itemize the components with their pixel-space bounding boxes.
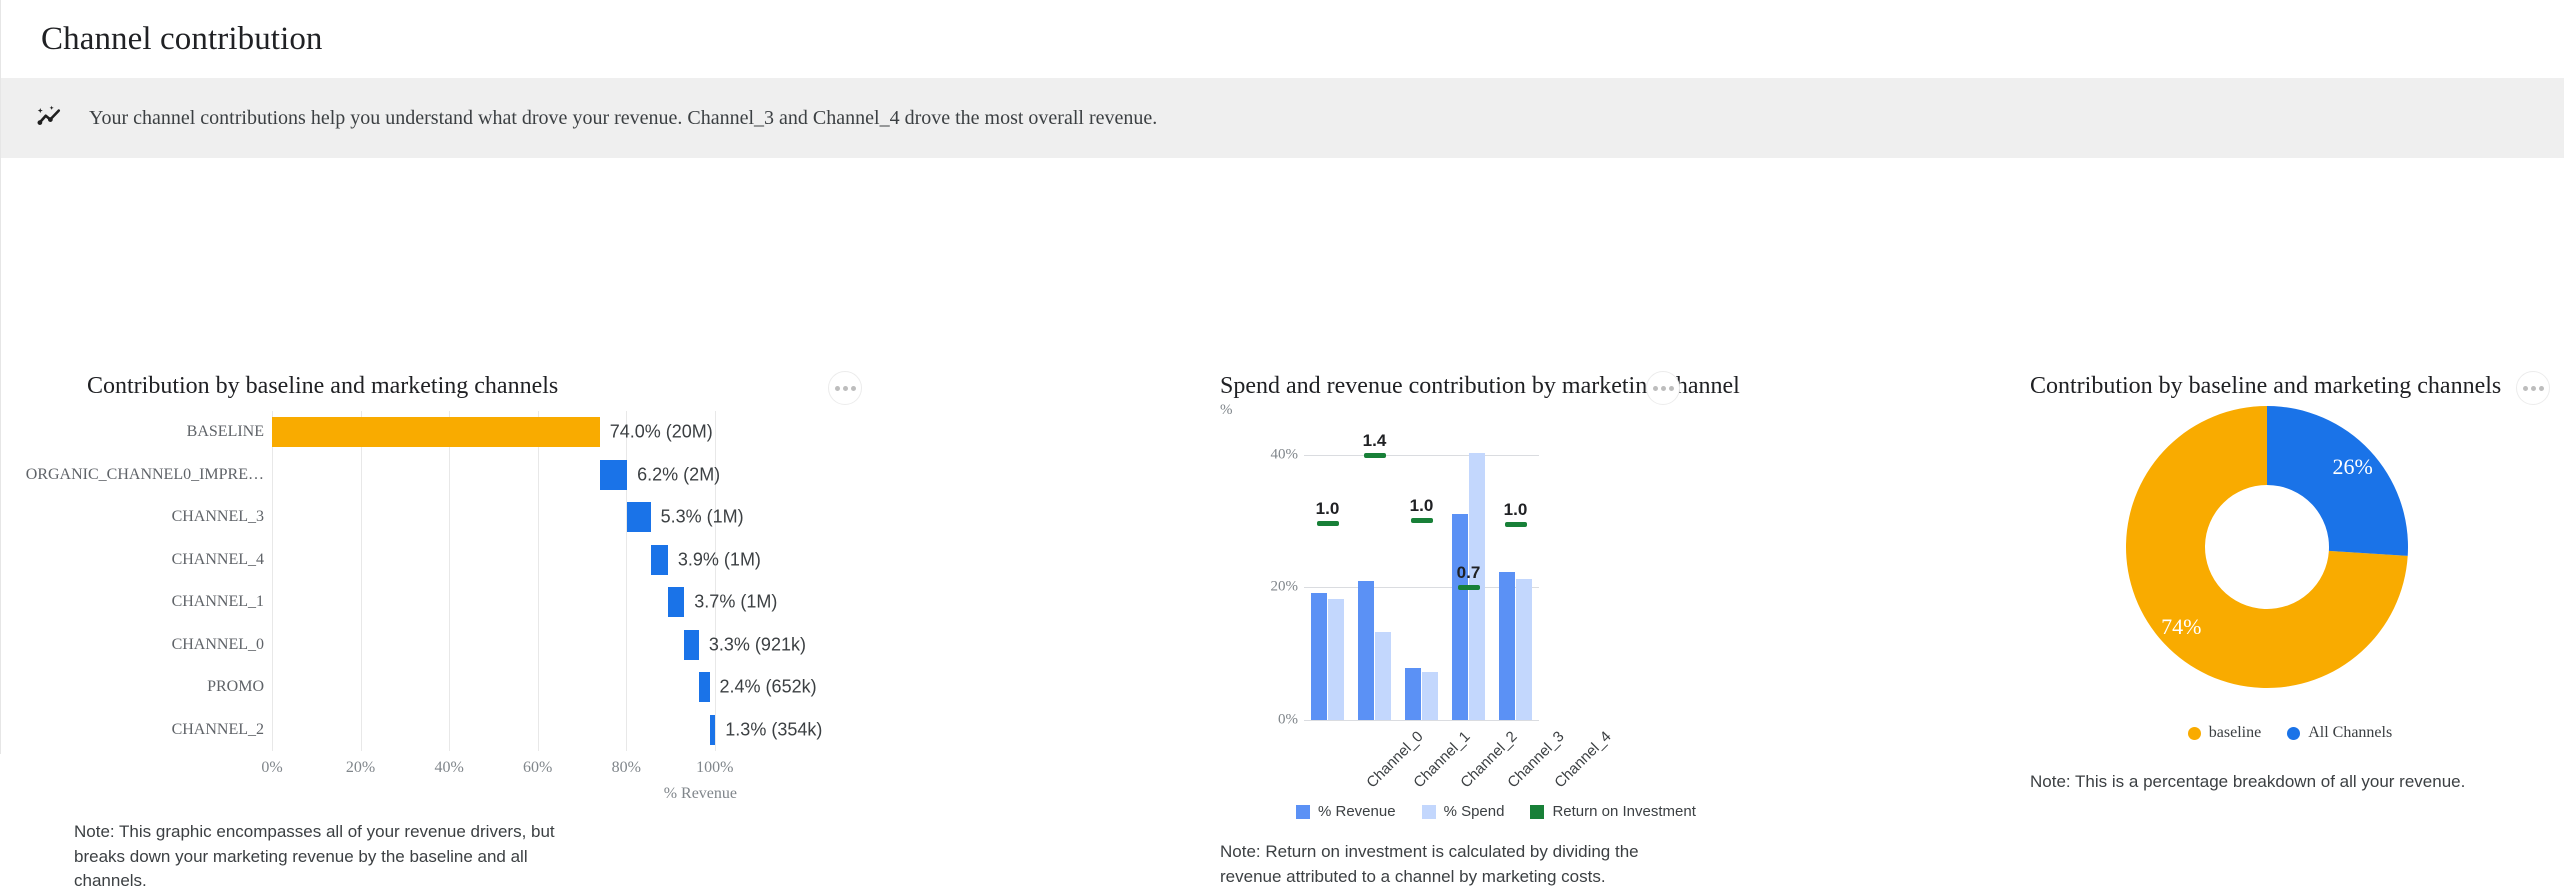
roi-value-label: 1.4 bbox=[1363, 431, 1387, 451]
legend-dot-icon bbox=[2287, 727, 2300, 740]
card-menu-button-waterfall[interactable] bbox=[828, 371, 862, 405]
roi-marker[interactable] bbox=[1317, 521, 1339, 526]
card-menu-button-spend-revenue[interactable] bbox=[1646, 371, 1680, 405]
roi-marker[interactable] bbox=[1364, 453, 1386, 458]
grid-line bbox=[1304, 455, 1539, 456]
grouped-bar-plot: 0%20%40%1.0Channel_01.4Channel_11.0Chann… bbox=[1264, 428, 1539, 738]
card-note-donut: Note: This is a percentage breakdown of … bbox=[2030, 770, 2490, 795]
legend-label: All Channels bbox=[2308, 724, 2392, 742]
waterfall-value-label: 6.2% (2M) bbox=[637, 464, 720, 485]
revenue-bar[interactable] bbox=[1311, 593, 1327, 720]
legend-dot-icon bbox=[2188, 727, 2201, 740]
grid-line bbox=[715, 411, 716, 751]
donut-slice-label: 74% bbox=[2161, 614, 2201, 640]
page-title: Channel contribution bbox=[41, 21, 323, 58]
waterfall-x-tick: 100% bbox=[696, 759, 733, 777]
waterfall-bars-area: 74.0% (20M)6.2% (2M)5.3% (1M)3.9% (1M)3.… bbox=[272, 411, 737, 751]
card-title-waterfall: Contribution by baseline and marketing c… bbox=[87, 373, 558, 400]
grid-line bbox=[272, 411, 273, 751]
dot-icon bbox=[851, 386, 856, 391]
card-contribution-waterfall: Contribution by baseline and marketing c… bbox=[1, 158, 1206, 754]
waterfall-x-tick: 40% bbox=[434, 759, 463, 777]
waterfall-category-label: CHANNEL_4 bbox=[172, 551, 264, 569]
dot-icon bbox=[1669, 386, 1674, 391]
waterfall-category-labels: BASELINEORGANIC_CHANNEL0_IMPRE…CHANNEL_3… bbox=[87, 411, 272, 751]
dot-icon bbox=[2523, 386, 2528, 391]
waterfall-x-tick: 60% bbox=[523, 759, 552, 777]
legend-item[interactable]: All Channels bbox=[2287, 724, 2392, 742]
waterfall-category-label: PROMO bbox=[207, 678, 264, 696]
channel-contribution-page: Channel contribution Your channel contri… bbox=[0, 0, 2564, 754]
waterfall-bar[interactable] bbox=[684, 630, 699, 660]
grid-line bbox=[1304, 720, 1539, 721]
waterfall-value-label: 2.4% (652k) bbox=[720, 677, 817, 698]
grouped-bar-y-tick: 0% bbox=[1264, 712, 1298, 729]
legend-item[interactable]: Return on Investment bbox=[1530, 803, 1695, 820]
waterfall-bar[interactable] bbox=[600, 460, 627, 490]
revenue-bar[interactable] bbox=[1499, 572, 1515, 720]
spend-bar[interactable] bbox=[1375, 632, 1391, 720]
donut-legend: baselineAll Channels bbox=[2016, 724, 2564, 742]
roi-value-label: 1.0 bbox=[1410, 496, 1434, 516]
legend-item[interactable]: % Revenue bbox=[1296, 803, 1396, 820]
waterfall-x-tick: 20% bbox=[346, 759, 375, 777]
waterfall-category-label: CHANNEL_2 bbox=[172, 721, 264, 739]
revenue-bar[interactable] bbox=[1358, 581, 1374, 720]
waterfall-category-label: CHANNEL_3 bbox=[172, 508, 264, 526]
donut-slice-label: 26% bbox=[2332, 454, 2372, 480]
waterfall-bar[interactable] bbox=[699, 672, 710, 702]
roi-value-label: 0.7 bbox=[1457, 563, 1481, 583]
grouped-bar-y-tick: 20% bbox=[1264, 579, 1298, 596]
roi-marker[interactable] bbox=[1411, 518, 1433, 523]
card-menu-button-donut[interactable] bbox=[2516, 371, 2550, 405]
dot-icon bbox=[2539, 386, 2544, 391]
dot-icon bbox=[1661, 386, 1666, 391]
waterfall-bar[interactable] bbox=[627, 502, 650, 532]
grid-line bbox=[538, 411, 539, 751]
legend-swatch-icon bbox=[1296, 805, 1310, 819]
waterfall-category-label: CHANNEL_0 bbox=[172, 636, 264, 654]
revenue-bar[interactable] bbox=[1405, 668, 1421, 720]
waterfall-category-label: BASELINE bbox=[187, 423, 264, 441]
waterfall-value-label: 1.3% (354k) bbox=[725, 719, 822, 740]
card-title-donut: Contribution by baseline and marketing c… bbox=[2030, 373, 2501, 400]
waterfall-category-label: CHANNEL_1 bbox=[172, 593, 264, 611]
legend-swatch-icon bbox=[1530, 805, 1544, 819]
waterfall-x-axis-title: % Revenue bbox=[664, 785, 737, 803]
donut-chart: 74%26% bbox=[2126, 406, 2408, 688]
legend-item[interactable]: % Spend bbox=[1422, 803, 1505, 820]
legend-label: baseline bbox=[2209, 724, 2261, 742]
page-header: Channel contribution bbox=[0, 0, 2564, 78]
legend-label: Return on Investment bbox=[1552, 803, 1695, 820]
roi-marker[interactable] bbox=[1458, 585, 1480, 590]
waterfall-bar[interactable] bbox=[651, 545, 668, 575]
insight-banner: Your channel contributions help you unde… bbox=[0, 78, 2564, 158]
waterfall-value-label: 3.9% (1M) bbox=[678, 549, 761, 570]
revenue-bar[interactable] bbox=[1452, 514, 1468, 720]
insights-sparkle-icon bbox=[33, 101, 67, 135]
waterfall-value-label: 3.3% (921k) bbox=[709, 634, 806, 655]
charts-row: Contribution by baseline and marketing c… bbox=[0, 158, 2564, 754]
donut-slice[interactable] bbox=[2267, 406, 2408, 556]
legend-label: % Revenue bbox=[1318, 803, 1396, 820]
roi-marker[interactable] bbox=[1505, 522, 1527, 527]
spend-bar[interactable] bbox=[1422, 672, 1438, 720]
insight-text: Your channel contributions help you unde… bbox=[89, 107, 1157, 130]
dot-icon bbox=[2531, 386, 2536, 391]
waterfall-bar[interactable] bbox=[272, 417, 600, 447]
waterfall-plot: BASELINEORGANIC_CHANNEL0_IMPRE…CHANNEL_3… bbox=[87, 411, 737, 751]
waterfall-value-label: 74.0% (20M) bbox=[610, 422, 713, 443]
legend-swatch-icon bbox=[1422, 805, 1436, 819]
grouped-bar-axis-area: 0%20%40%1.0Channel_01.4Channel_11.0Chann… bbox=[1304, 428, 1539, 720]
waterfall-value-label: 3.7% (1M) bbox=[694, 592, 777, 613]
legend-label: % Spend bbox=[1444, 803, 1505, 820]
card-contribution-donut: Contribution by baseline and marketing c… bbox=[2016, 158, 2564, 754]
waterfall-x-tick: 0% bbox=[261, 759, 282, 777]
grid-line bbox=[449, 411, 450, 751]
waterfall-value-label: 5.3% (1M) bbox=[661, 507, 744, 528]
grid-line bbox=[361, 411, 362, 751]
spend-bar[interactable] bbox=[1516, 579, 1532, 720]
grouped-bar-legend: % Revenue% SpendReturn on Investment bbox=[1296, 803, 1696, 820]
card-note-waterfall: Note: This graphic encompasses all of yo… bbox=[74, 820, 594, 894]
grouped-bar-y-tick: 40% bbox=[1264, 446, 1298, 463]
waterfall-category-label: ORGANIC_CHANNEL0_IMPRE… bbox=[26, 466, 264, 484]
waterfall-x-tick: 80% bbox=[612, 759, 641, 777]
waterfall-bar[interactable] bbox=[668, 587, 684, 617]
waterfall-bar[interactable] bbox=[710, 715, 716, 745]
donut-svg bbox=[2126, 406, 2408, 688]
dot-icon bbox=[1653, 386, 1658, 391]
card-spend-revenue-bars: Spend and revenue contribution by market… bbox=[1206, 158, 2016, 754]
legend-item[interactable]: baseline bbox=[2188, 724, 2261, 742]
dot-icon bbox=[835, 386, 840, 391]
spend-bar[interactable] bbox=[1328, 599, 1344, 720]
card-note-spend-revenue: Note: Return on investment is calculated… bbox=[1220, 840, 1690, 889]
dot-icon bbox=[843, 386, 848, 391]
roi-value-label: 1.0 bbox=[1316, 499, 1340, 519]
roi-value-label: 1.0 bbox=[1504, 500, 1528, 520]
y-axis-unit-label: % bbox=[1220, 402, 1233, 419]
